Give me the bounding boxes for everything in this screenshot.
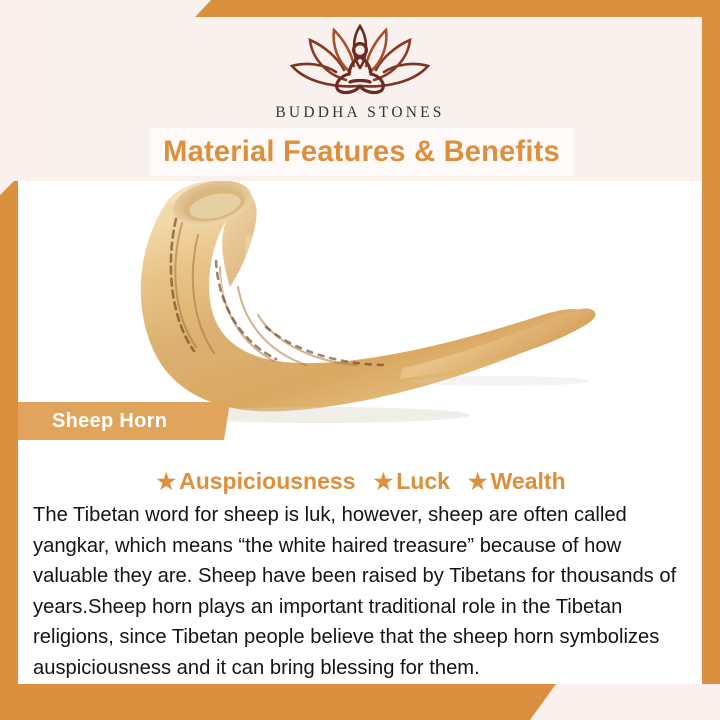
brand-name: BUDDHA STONES: [275, 104, 444, 122]
star-icon: ★: [468, 469, 488, 495]
star-icon: ★: [156, 469, 176, 495]
page-title: Material Features & Benefits: [164, 135, 561, 169]
frame-bar-bottom: [0, 684, 556, 720]
frame-bar-right: [702, 17, 720, 684]
benefit-item-0: Auspiciousness: [179, 468, 355, 494]
lotus-meditation-icon: [276, 22, 444, 100]
frame-bar-left: [0, 181, 18, 684]
benefit-item-1: Luck: [396, 468, 450, 494]
description-paragraph: The Tibetan word for sheep is luk, howev…: [33, 500, 685, 683]
frame-bar-top: [195, 0, 720, 17]
product-label-text: Sheep Horn: [52, 410, 167, 433]
sheep-horn-image: [70, 181, 630, 433]
product-label-badge: Sheep Horn: [0, 402, 230, 440]
benefits-row: ★Auspiciousness★Luck★Wealth: [18, 468, 702, 495]
brand-logo: BUDDHA STONES: [0, 22, 720, 122]
benefit-item-2: Wealth: [491, 468, 566, 494]
poster-root: BUDDHA STONES Material Features & Benefi…: [0, 0, 720, 720]
star-icon: ★: [373, 469, 393, 495]
title-band: Material Features & Benefits: [150, 128, 574, 176]
